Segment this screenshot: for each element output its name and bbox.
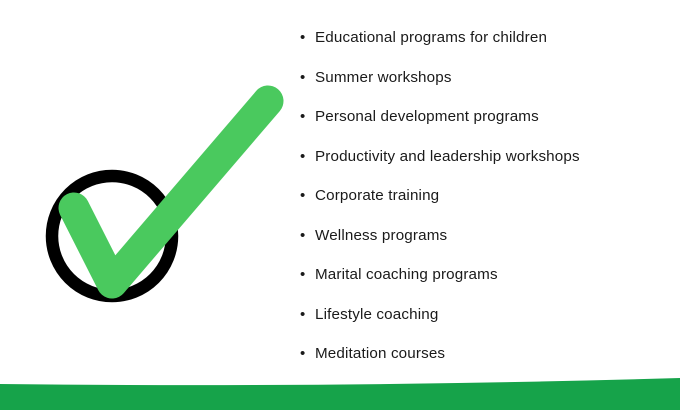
footer-band-fill: [0, 378, 680, 410]
bullet-point-icon: •: [300, 307, 315, 322]
list-item: • Productivity and leadership workshops: [300, 149, 670, 189]
footer-green-band: [0, 374, 680, 410]
list-item: • Corporate training: [300, 188, 670, 228]
list-item: • Personal development programs: [300, 109, 670, 149]
bullet-point-icon: •: [300, 228, 315, 243]
feature-bullet-list: • Educational programs for children • Su…: [300, 30, 670, 386]
bullet-point-icon: •: [300, 109, 315, 124]
list-item-label: Corporate training: [315, 188, 439, 203]
bullet-point-icon: •: [300, 70, 315, 85]
checkmark-graphic: [30, 85, 290, 325]
list-item-label: Productivity and leadership workshops: [315, 149, 580, 164]
list-item-label: Wellness programs: [315, 228, 447, 243]
slide-canvas: • Educational programs for children • Su…: [0, 0, 680, 410]
list-item: • Lifestyle coaching: [300, 307, 670, 347]
list-item: • Marital coaching programs: [300, 267, 670, 307]
bullet-point-icon: •: [300, 267, 315, 282]
bullet-point-icon: •: [300, 346, 315, 361]
bullet-point-icon: •: [300, 188, 315, 203]
list-item: • Summer workshops: [300, 70, 670, 110]
list-item: • Educational programs for children: [300, 30, 670, 70]
checkmark-icon: [30, 85, 290, 325]
list-item-label: Personal development programs: [315, 109, 539, 124]
list-item-label: Summer workshops: [315, 70, 452, 85]
list-item-label: Meditation courses: [315, 346, 445, 361]
list-item: • Wellness programs: [300, 228, 670, 268]
list-item-label: Lifestyle coaching: [315, 307, 438, 322]
bullet-point-icon: •: [300, 149, 315, 164]
bullet-point-icon: •: [300, 30, 315, 45]
list-item-label: Marital coaching programs: [315, 267, 498, 282]
footer-band-shape: [0, 374, 680, 410]
list-item-label: Educational programs for children: [315, 30, 547, 45]
